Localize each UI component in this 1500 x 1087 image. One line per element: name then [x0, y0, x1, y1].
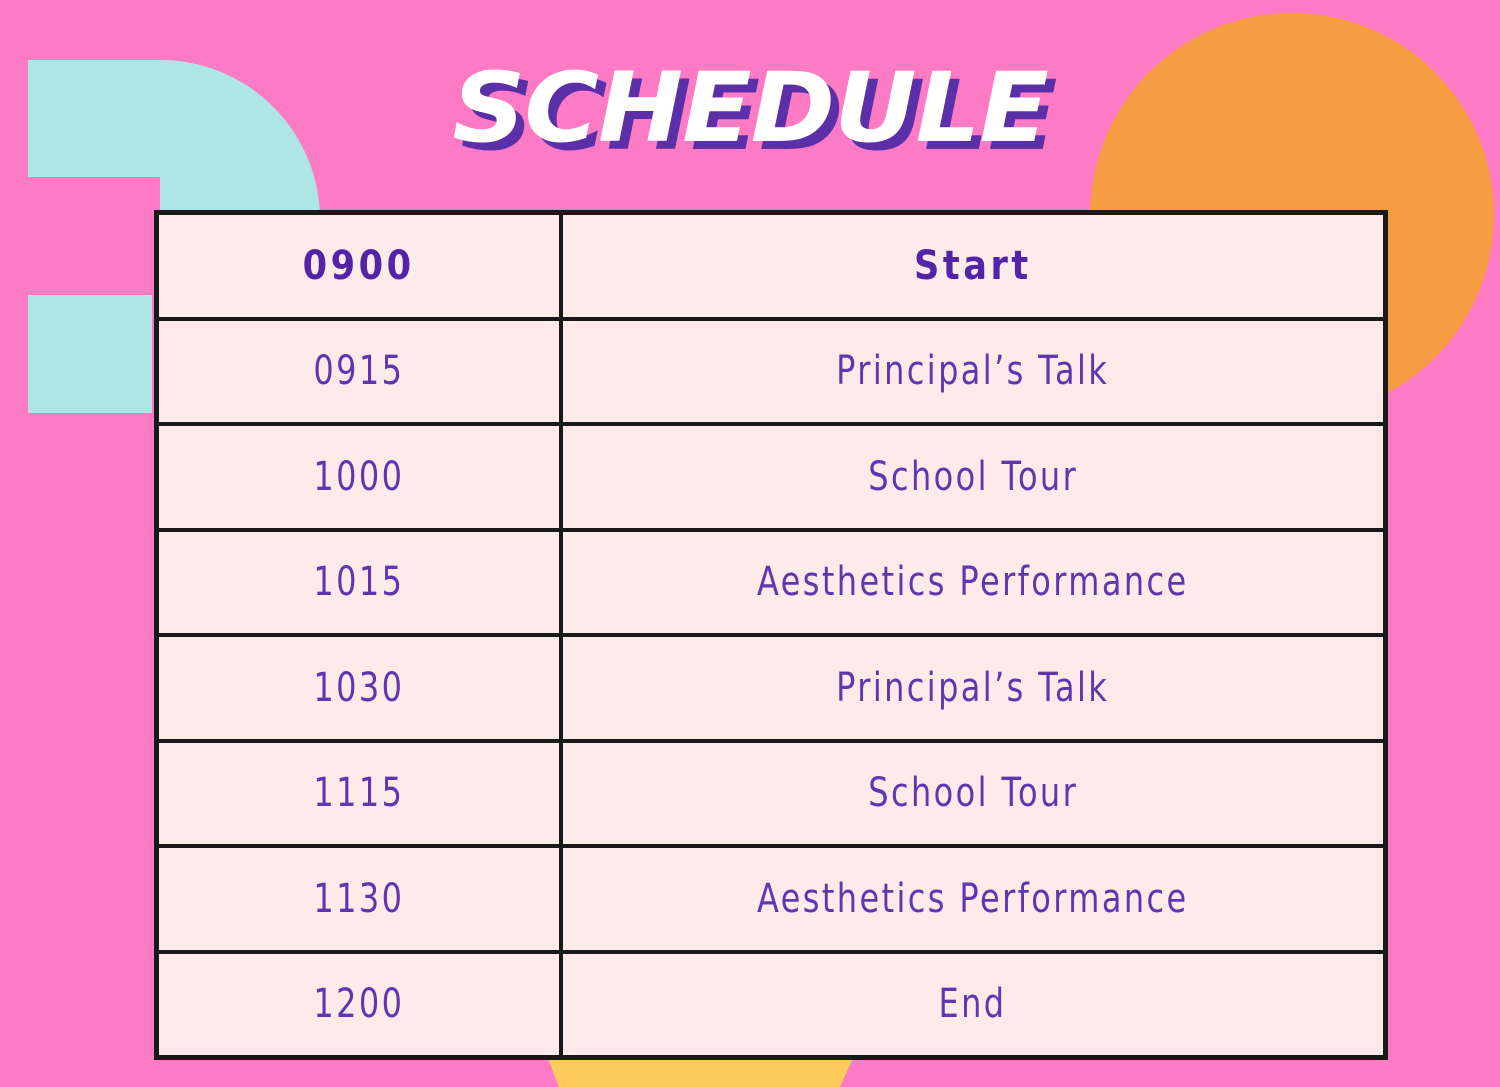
row-activity-value: End [939, 981, 1007, 1027]
schedule-poster: SCHEDULE 0900 Start 0915 Principal’s Tal… [0, 0, 1500, 1087]
table-row: 1200 End [159, 954, 1383, 1056]
row-cell-activity: Principal’s Talk [563, 637, 1383, 739]
row-cell-time: 1115 [159, 743, 563, 845]
row-cell-time: 1200 [159, 954, 563, 1056]
header-time-label: 0900 [303, 243, 415, 289]
header-activity-label: Start [914, 243, 1032, 289]
row-time-value: 1200 [313, 981, 404, 1027]
row-cell-time: 1130 [159, 848, 563, 950]
header-cell-activity: Start [563, 215, 1383, 317]
row-time-value: 1015 [313, 559, 404, 605]
table-header-row: 0900 Start [159, 215, 1383, 321]
row-cell-activity: End [563, 954, 1383, 1056]
row-time-value: 0915 [313, 348, 404, 394]
row-activity-value: Principal’s Talk [836, 665, 1109, 711]
row-activity-value: Aesthetics Performance [757, 559, 1189, 605]
row-time-value: 1115 [313, 770, 404, 816]
row-activity-value: School Tour [868, 454, 1078, 500]
row-time-value: 1130 [313, 876, 404, 922]
row-cell-activity: Aesthetics Performance [563, 532, 1383, 634]
table-row: 1015 Aesthetics Performance [159, 532, 1383, 638]
table-row: 1115 School Tour [159, 743, 1383, 849]
row-time-value: 1030 [313, 665, 404, 711]
row-cell-activity: School Tour [563, 426, 1383, 528]
row-cell-time: 1030 [159, 637, 563, 739]
schedule-table: 0900 Start 0915 Principal’s Talk 1000 Sc… [154, 210, 1388, 1060]
row-activity-value: School Tour [868, 770, 1078, 816]
row-cell-activity: School Tour [563, 743, 1383, 845]
row-cell-activity: Aesthetics Performance [563, 848, 1383, 950]
row-cell-time: 0915 [159, 321, 563, 423]
row-activity-value: Aesthetics Performance [757, 876, 1189, 922]
row-time-value: 1000 [313, 454, 404, 500]
table-row: 1030 Principal’s Talk [159, 637, 1383, 743]
row-cell-activity: Principal’s Talk [563, 321, 1383, 423]
table-row: 1130 Aesthetics Performance [159, 848, 1383, 954]
row-cell-time: 1015 [159, 532, 563, 634]
row-activity-value: Principal’s Talk [836, 348, 1109, 394]
row-cell-time: 1000 [159, 426, 563, 528]
table-row: 0915 Principal’s Talk [159, 321, 1383, 427]
teal-square-shape [28, 295, 152, 413]
table-row: 1000 School Tour [159, 426, 1383, 532]
header-cell-time: 0900 [159, 215, 563, 317]
page-title: SCHEDULE [0, 58, 1500, 159]
